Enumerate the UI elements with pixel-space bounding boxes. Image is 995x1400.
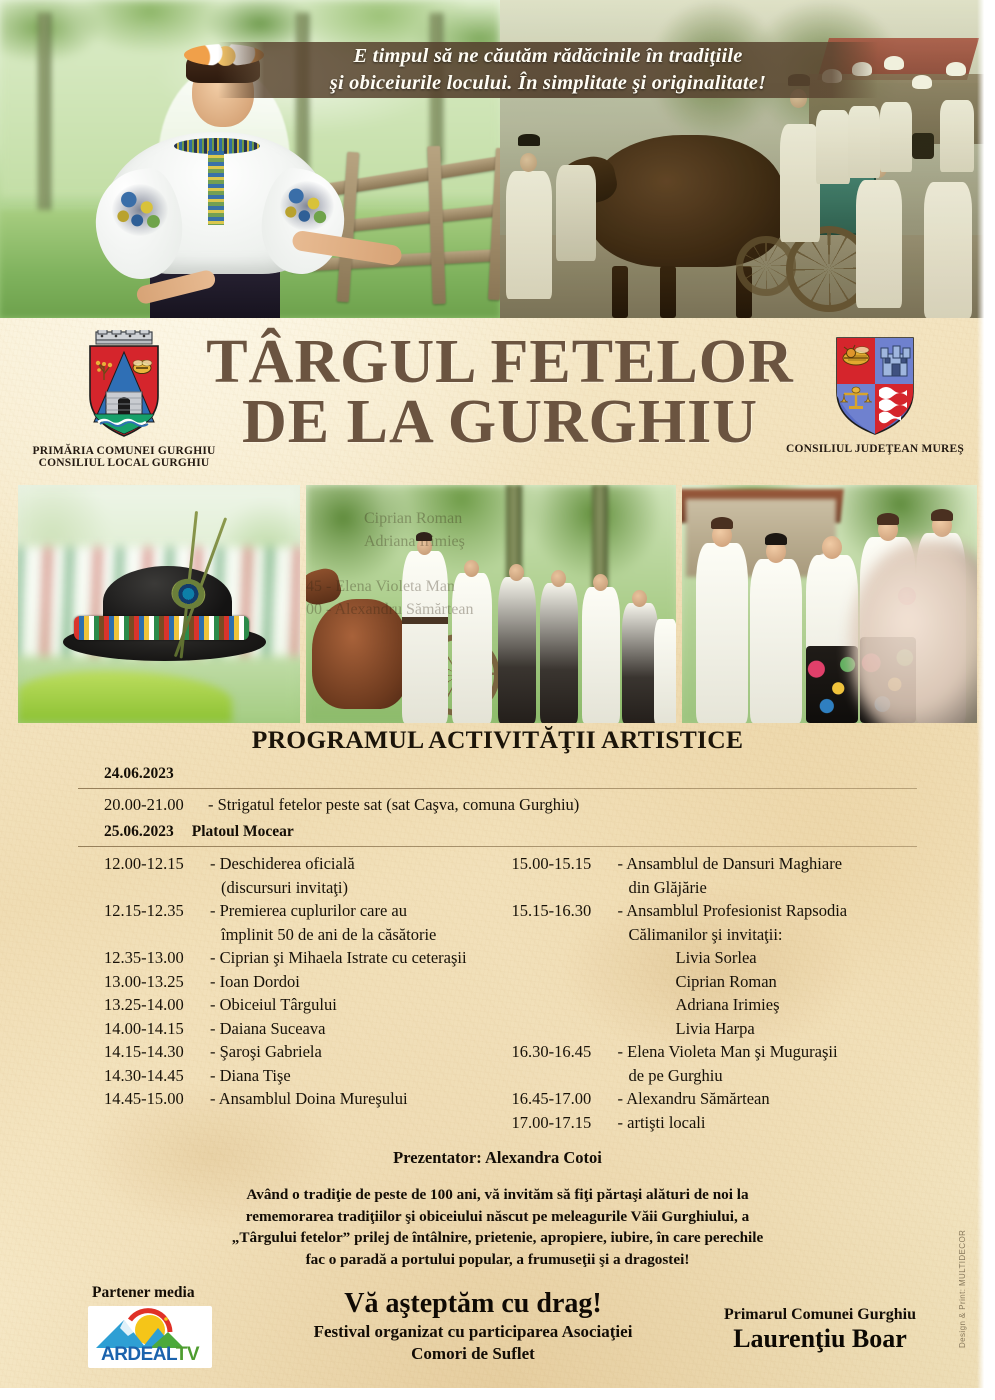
program-column-left: 12.00-12.15 - Deschiderea oficială (disc… (78, 852, 498, 1134)
desc-cont: împlinit 50 de ani de la căsătorie (210, 923, 498, 947)
program-row-time: 16.45-17.00 (512, 1087, 618, 1111)
mures-crest-block: CONSILIUL JUDEŢEAN MUREŞ (770, 334, 980, 455)
presenter-line: Prezentator: Alexandra Cotoi (78, 1148, 917, 1168)
child-head (822, 536, 842, 559)
program-row: 15.00-15.15 - Ansamblul de Dansuri Maghi… (498, 852, 918, 899)
page-title: TÂRGUL FETELOR DE LA GURGHIU (150, 332, 850, 452)
child-hair (877, 513, 899, 525)
sleeve-embroidery (280, 181, 334, 231)
program-row-desc: - Elena Violeta Man şi Muguraşii de pe G… (618, 1040, 918, 1087)
program-row: 12.00-12.15 - Deschiderea oficială (disc… (78, 852, 498, 899)
mures-county-coat-of-arms-icon (831, 334, 919, 438)
program-row-desc: - artişti locali (618, 1111, 918, 1135)
child-in-costume (750, 559, 802, 723)
desc-main: - Ansamblul Profesionist Rapsodia (618, 901, 848, 920)
program-row: 14.45-15.00 - Ansamblul Doina Mureşului (78, 1087, 498, 1111)
quote-line2: şi obiceiurile locului. În simplitate şi… (330, 70, 766, 97)
closing-block: Vă aşteptăm cu drag! Festival organizat … (258, 1288, 688, 1365)
page-title-line1: TÂRGUL FETELOR (206, 328, 794, 396)
photo-folk-ensemble-cart: Ciprian Roman Adriana Irimieş 45 - Elena… (306, 485, 676, 723)
program-row-desc: - Strigatul fetelor peste sat (sat Caşva… (208, 795, 579, 815)
page-title-line2: DE LA GURGHIU (150, 392, 850, 452)
page-bottom-margin (0, 1388, 995, 1400)
program-row-time: 14.00-14.15 (104, 1017, 210, 1041)
program-row-desc: - Premierea cuplurilor care au împlinit … (210, 899, 498, 946)
child-hat (765, 533, 787, 545)
program-row-time: 12.00-12.15 (104, 852, 210, 899)
organizer-line1: Festival organizat cu participarea Asoci… (258, 1321, 688, 1343)
program-row: 14.00-14.15 - Daiana Suceava (78, 1017, 498, 1041)
mayor-name: Laurenţiu Boar (690, 1324, 950, 1354)
child-in-costume (696, 543, 748, 723)
partner-media-label: Partener media (92, 1284, 195, 1302)
program-row-desc: - Şaroşi Gabriela (210, 1040, 498, 1064)
gurghiu-crest-caption-line2: CONSILIUL LOCAL GURGHIU (18, 457, 230, 469)
design-print-credit: Design & Print: MULTIDECOR (958, 1238, 974, 1348)
invitation-paragraph: Având o tradiţie de peste de 100 ani, vă… (132, 1184, 863, 1270)
program-date-day1: 24.06.2023 (78, 761, 917, 786)
program-row: 13.00-13.25 - Ioan Dordoi (78, 970, 498, 994)
ardeal-word-part2: TV (176, 1344, 199, 1365)
ardeal-word-part1: ARDEAL (101, 1344, 176, 1365)
program-row: 16.45-17.00 - Alexandru Sămărtean (498, 1087, 918, 1111)
program-row-time: 12.15-12.35 (104, 899, 210, 946)
program-heading: PROGRAMUL ACTIVITĂŢII ARTISTICE (0, 725, 995, 755)
organizer-info: Festival organizat cu participarea Asoci… (258, 1321, 688, 1365)
footer: Partener media ARDEALTV Vă aşteptăm cu d… (0, 1282, 995, 1400)
invitation-line3: „Târgului fetelor” prilej de întâlnire, … (132, 1227, 863, 1249)
desc-main: - Ansamblul de Dansuri Maghiare (618, 854, 843, 873)
ghost-text-line3: 45 - Elena Violeta Man (306, 575, 676, 598)
program-row-desc: - Ansamblul de Dansuri Maghiare din Glăj… (618, 852, 918, 899)
program-row: 17.00-17.15 - artişti locali (498, 1111, 918, 1135)
program-row-time: 15.15-16.30 (512, 899, 618, 1040)
guest-artist: Ciprian Roman (618, 970, 918, 994)
child-hair (931, 509, 953, 521)
program-row-time: 13.00-13.25 (104, 970, 210, 994)
program-row-desc: - Ioan Dordoi (210, 970, 498, 994)
desc-cont: Călimanilor şi invitaţii: (618, 923, 918, 947)
photo-traditional-hat (18, 485, 300, 723)
divider (78, 788, 917, 789)
ardeal-tv-wordmark: ARDEALTV (88, 1344, 212, 1366)
program-row-desc: - Deschiderea oficială (discursuri invit… (210, 852, 498, 899)
program-row-time: 20.00-21.00 (104, 795, 208, 815)
program-row-time: 14.45-15.00 (104, 1087, 210, 1111)
desc-main: - Premierea cuplurilor care au (210, 901, 407, 920)
ghost-text-line4: 00 - Alexandru Sămărtean (306, 598, 676, 621)
invitation-line4: fac o paradă a portului popular, a frumu… (132, 1249, 863, 1271)
program-row-desc: - Daiana Suceava (210, 1017, 498, 1041)
quote-line1: E timpul să ne căutăm rădăcinile în trad… (353, 43, 742, 70)
tree-trunk (38, 13, 51, 223)
program-row-desc: - Ciprian şi Mihaela Istrate cu ceteraşi… (210, 946, 498, 970)
program-row: 14.30-14.45 - Diana Tişe (78, 1064, 498, 1088)
program-row-desc: - Ansamblul Profesionist Rapsodia Călima… (618, 899, 918, 1040)
desc-cont: de pe Gurghiu (618, 1064, 918, 1088)
desc-cont: (discursuri invitaţi) (210, 876, 498, 900)
program-section: PROGRAMUL ACTIVITĂŢII ARTISTICE 24.06.20… (0, 725, 995, 1270)
quote-banner: E timpul să ne căutăm rădăcinile în trad… (218, 42, 878, 98)
mayor-signature-block: Primarul Comunei Gurghiu Laurenţiu Boar (690, 1306, 950, 1354)
title-band: PRIMĂRIA COMUNEI GURGHIU CONSILIUL LOCAL… (0, 318, 995, 485)
program-row-time: 14.15-14.30 (104, 1040, 210, 1064)
invitation-line2: rememorarea tradiţiilor şi obiceiului nă… (132, 1206, 863, 1228)
page-right-margin (977, 0, 995, 1400)
organizer-line2: Comori de Suflet (258, 1343, 688, 1365)
program-row-desc: - Ansamblul Doina Mureşului (210, 1087, 498, 1111)
program-venue: Platoul Mocear (174, 819, 294, 844)
invitation-line1: Având o tradiţie de peste de 100 ani, vă… (132, 1184, 863, 1206)
program-row: 20.00-21.00 - Strigatul fetelor peste sa… (78, 794, 917, 819)
ghost-text-line2: Adriana Irimieş (306, 530, 676, 553)
desc-cont: din Glăjărie (618, 876, 918, 900)
program-column-right: 15.00-15.15 - Ansamblul de Dansuri Maghi… (498, 852, 918, 1134)
child-hat (711, 517, 733, 529)
mayor-role: Primarul Comunei Gurghiu (690, 1306, 950, 1324)
ghost-text-line1: Ciprian Roman (306, 507, 676, 530)
program-row-time: 13.25-14.00 (104, 993, 210, 1017)
program-row: 15.15-16.30 - Ansamblul Profesionist Rap… (498, 899, 918, 1040)
program-row-time: 12.35-13.00 (104, 946, 210, 970)
slogan: Vă aşteptăm cu drag! (258, 1288, 688, 1320)
photo-children-folk-costumes (682, 485, 977, 723)
program-row-time: 16.30-16.45 (512, 1040, 618, 1087)
program-row: 12.15-12.35 - Premierea cuplurilor care … (78, 899, 498, 946)
program-row: 16.30-16.45 - Elena Violeta Man şi Mugur… (498, 1040, 918, 1087)
mures-crest-caption: CONSILIUL JUDEŢEAN MUREŞ (770, 443, 980, 455)
program-columns: 12.00-12.15 - Deschiderea oficială (disc… (78, 852, 917, 1134)
blouse-placket-embroidery (208, 151, 224, 225)
program-row-desc: - Alexandru Sămărtean (618, 1087, 918, 1111)
poster: PRIMĂRIA COMUNEI GURGHIU CONSILIUL LOCAL… (0, 0, 995, 1400)
program-row: 12.35-13.00 - Ciprian şi Mihaela Istrate… (78, 946, 498, 970)
program-row-desc: - Diana Tişe (210, 1064, 498, 1088)
program-row-time: 15.00-15.15 (512, 852, 618, 899)
sleeve-embroidery (112, 184, 168, 236)
program-row-time: 14.30-14.45 (104, 1064, 210, 1088)
program-date-day2: 25.06.2023 (78, 819, 174, 844)
program-row-time: 17.00-17.15 (512, 1111, 618, 1135)
program-row-desc: - Obiceiul Târgului (210, 993, 498, 1017)
desc-main: - Deschiderea oficială (210, 854, 355, 873)
program-row: 14.15-14.30 - Şaroşi Gabriela (78, 1040, 498, 1064)
guest-artist: Livia Harpa (618, 1017, 918, 1041)
program-row: 13.25-14.00 - Obiceiul Târgului (78, 993, 498, 1017)
guest-artist: Livia Sorlea (618, 946, 918, 970)
divider (78, 846, 917, 847)
ardeal-tv-logo[interactable]: ARDEALTV (88, 1306, 212, 1368)
guest-artist: Adriana Irimieş (618, 993, 918, 1017)
desc-main: - Elena Violeta Man şi Muguraşii (618, 1042, 838, 1061)
ghost-text-overlay: Ciprian Roman Adriana Irimieş 45 - Elena… (306, 485, 676, 723)
